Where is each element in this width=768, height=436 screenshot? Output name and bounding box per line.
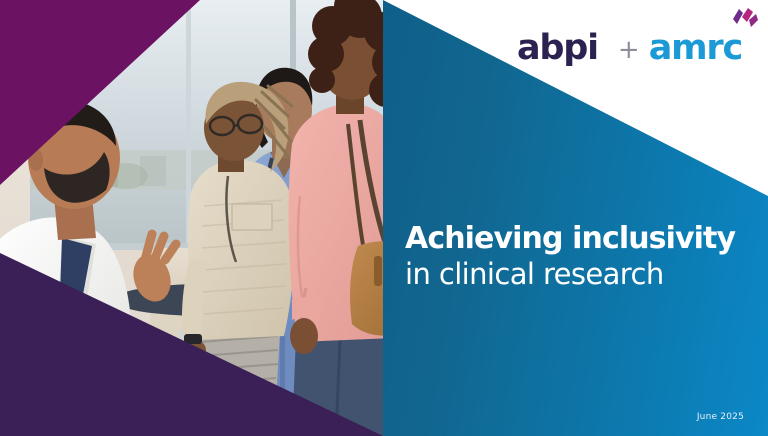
abpi-wordmark: abpi	[517, 31, 598, 66]
title-panel: abpi + amrc Achieving inclusivity in cli…	[383, 0, 768, 436]
cover-title: Achieving inclusivity in clinical resear…	[405, 222, 750, 291]
report-cover: abpi + amrc Achieving inclusivity in cli…	[0, 0, 768, 436]
brand-logo: abpi + amrc	[517, 24, 742, 66]
publication-date: June 2025	[697, 412, 744, 422]
photo-illustration	[0, 0, 383, 436]
abpi-spark-icon	[732, 8, 758, 30]
cover-photo	[0, 0, 383, 436]
title-line-1: Achieving inclusivity	[405, 222, 750, 256]
title-line-2: in clinical research	[405, 258, 750, 291]
logo-plus-separator: +	[618, 37, 640, 63]
amrc-wordmark: amrc	[649, 31, 742, 66]
